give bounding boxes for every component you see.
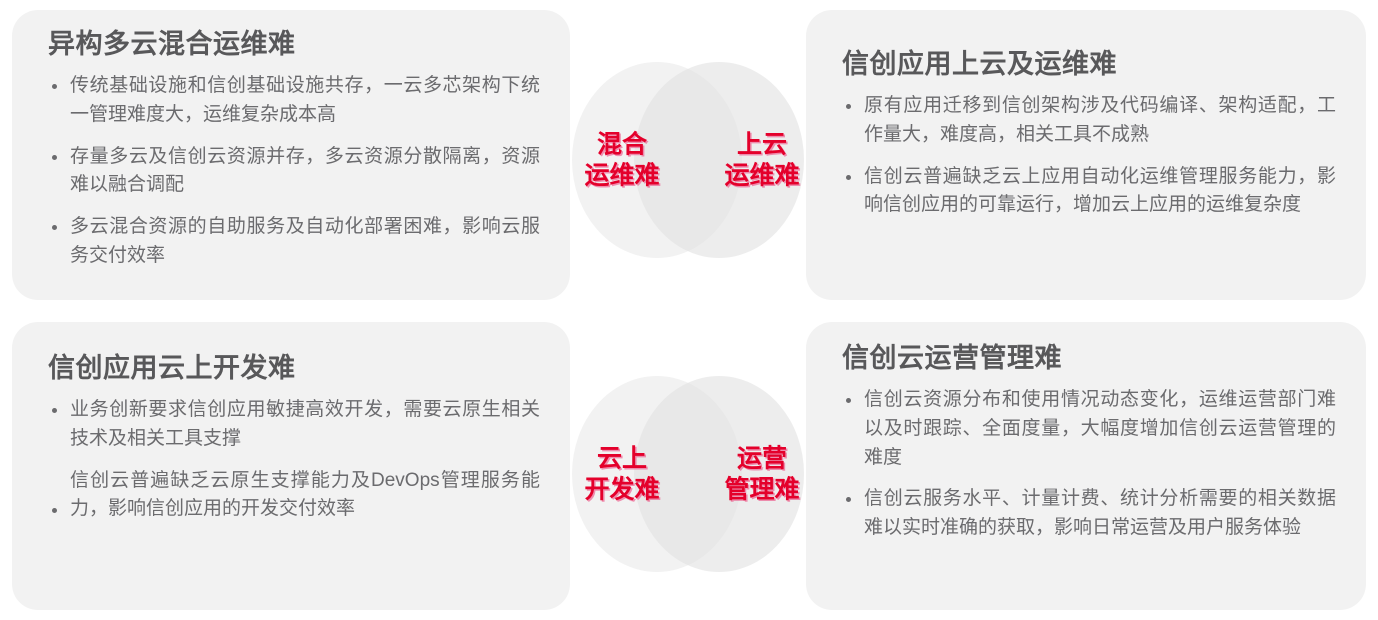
panel-bottom-right-bullet-list: 信创云资源分布和使用情况动态变化，运维运营部门难以及时跟踪、全面度量，大幅度增加… [842, 386, 1336, 543]
list-item: 业务创新要求信创应用敏捷高效开发，需要云原生相关技术及相关工具支撑 [48, 396, 540, 454]
panel-top-left-title: 异构多云混合运维难 [48, 28, 540, 62]
challenge-quadrant-board: 异构多云混合运维难 传统基础设施和信创基础设施共存，一云多芯架构下统一管理难度大… [0, 0, 1378, 620]
venn-label-line-1: 云上 [558, 444, 686, 475]
venn-label-top-left: 混合 运维难 [558, 130, 686, 191]
panel-bottom-left-content: 信创应用云上开发难 业务创新要求信创应用敏捷高效开发，需要云原生相关技术及相关工… [12, 322, 570, 524]
list-item: 多云混合资源的自助服务及自动化部署困难，影响云服务交付效率 [48, 213, 540, 271]
panel-bottom-left-title: 信创应用云上开发难 [48, 352, 540, 386]
panel-top-left-bullet-list: 传统基础设施和信创基础设施共存，一云多芯架构下统一管理难度大，运维复杂成本高 存… [48, 72, 540, 271]
venn-label-line-1: 运营 [698, 444, 826, 475]
panel-top-left: 异构多云混合运维难 传统基础设施和信创基础设施共存，一云多芯架构下统一管理难度大… [12, 10, 570, 300]
list-item: 原有应用迁移到信创架构涉及代码编译、架构适配，工作量大，难度高，相关工具不成熟 [842, 92, 1336, 150]
venn-diagram-bottom: 云上 开发难 运营 管理难 [572, 376, 804, 572]
list-item: 信创云资源分布和使用情况动态变化，运维运营部门难以及时跟踪、全面度量，大幅度增加… [842, 386, 1336, 473]
panel-top-right-title: 信创应用上云及运维难 [842, 48, 1336, 82]
panel-bottom-right-content: 信创云运营管理难 信创云资源分布和使用情况动态变化，运维运营部门难以及时跟踪、全… [806, 322, 1366, 543]
panel-bottom-right: 信创云运营管理难 信创云资源分布和使用情况动态变化，运维运营部门难以及时跟踪、全… [806, 322, 1366, 610]
panel-top-right-content: 信创应用上云及运维难 原有应用迁移到信创架构涉及代码编译、架构适配，工作量大，难… [806, 10, 1366, 220]
panel-top-right: 信创应用上云及运维难 原有应用迁移到信创架构涉及代码编译、架构适配，工作量大，难… [806, 10, 1366, 300]
venn-diagram-top: 混合 运维难 上云 运维难 [572, 62, 804, 258]
list-item: 信创云普遍缺乏云原生支撑能力及DevOps管理服务能力，影响信创应用的开发交付效… [48, 467, 540, 525]
list-item: 传统基础设施和信创基础设施共存，一云多芯架构下统一管理难度大，运维复杂成本高 [48, 72, 540, 130]
panel-top-left-content: 异构多云混合运维难 传统基础设施和信创基础设施共存，一云多芯架构下统一管理难度大… [12, 10, 570, 271]
panel-bottom-right-title: 信创云运营管理难 [842, 342, 1336, 376]
panel-bottom-left-bullet-list: 业务创新要求信创应用敏捷高效开发，需要云原生相关技术及相关工具支撑 信创云普遍缺… [48, 396, 540, 525]
panel-bottom-left: 信创应用云上开发难 业务创新要求信创应用敏捷高效开发，需要云原生相关技术及相关工… [12, 322, 570, 610]
venn-label-line-2: 开发难 [558, 474, 686, 505]
list-item: 存量多云及信创云资源并存，多云资源分散隔离，资源难以融合调配 [48, 143, 540, 201]
venn-label-top-right: 上云 运维难 [698, 130, 826, 191]
list-item: 信创云服务水平、计量计费、统计分析需要的相关数据难以实时准确的获取，影响日常运营… [842, 485, 1336, 543]
venn-label-line-1: 上云 [698, 130, 826, 161]
venn-label-line-1: 混合 [558, 130, 686, 161]
venn-label-line-2: 运维难 [558, 160, 686, 191]
venn-label-bottom-left: 云上 开发难 [558, 444, 686, 505]
list-item: 信创云普遍缺乏云上应用自动化运维管理服务能力，影响信创应用的可靠运行，增加云上应… [842, 163, 1336, 221]
venn-label-bottom-right: 运营 管理难 [698, 444, 826, 505]
venn-label-line-2: 管理难 [698, 474, 826, 505]
venn-label-line-2: 运维难 [698, 160, 826, 191]
panel-top-right-bullet-list: 原有应用迁移到信创架构涉及代码编译、架构适配，工作量大，难度高，相关工具不成熟 … [842, 92, 1336, 221]
